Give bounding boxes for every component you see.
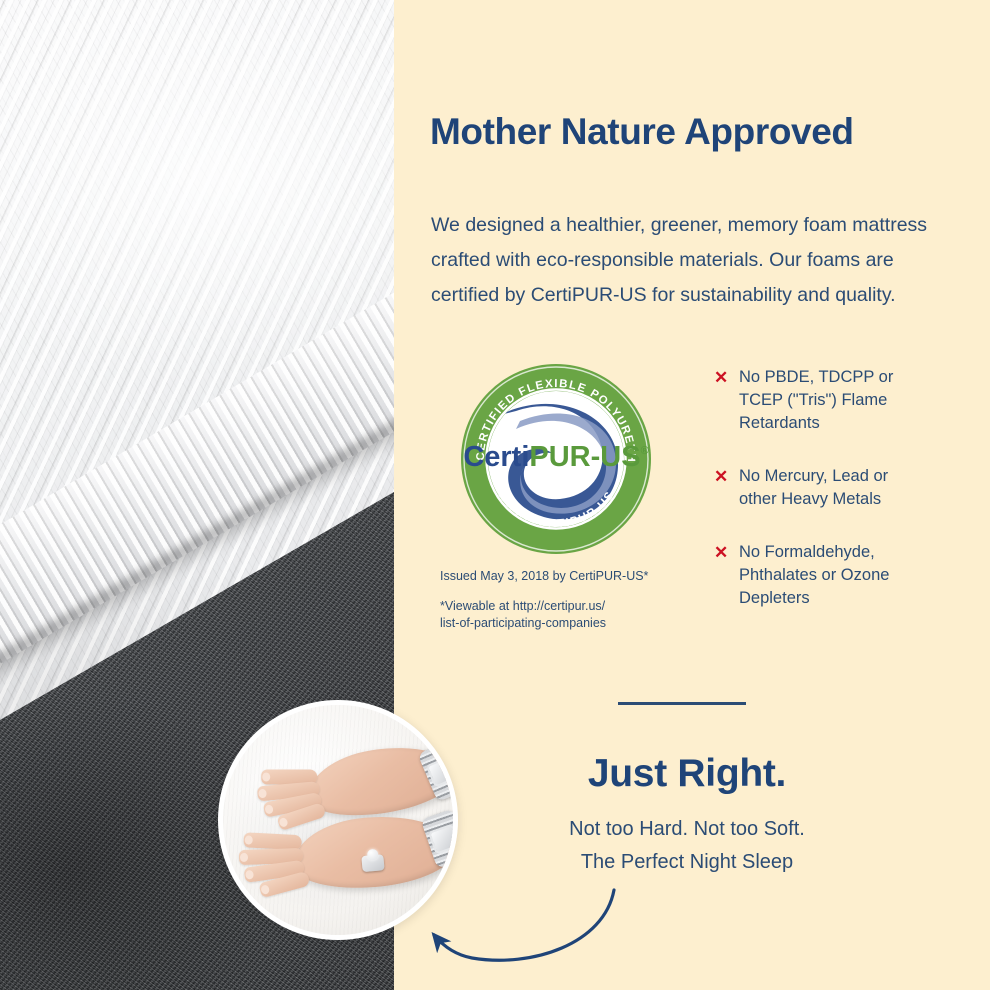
claims-list: ✕ No PBDE, TDCPP or TCEP ("Tris") Flame …	[714, 366, 954, 640]
seal-note-line2: list-of-participating-companies	[440, 615, 710, 632]
just-right-subtitle-line1: Not too Hard. Not too Soft.	[394, 818, 990, 841]
claim-item: ✕ No PBDE, TDCPP or TCEP ("Tris") Flame …	[714, 366, 954, 435]
diamond-ring	[361, 854, 384, 872]
claim-item: ✕ No Mercury, Lead or other Heavy Metals	[714, 465, 954, 511]
page-title: Mother Nature Approved	[430, 111, 854, 153]
just-right-subtitle-line2: The Perfect Night Sleep	[394, 851, 990, 874]
claim-line: Depleters	[739, 589, 810, 607]
seal-wordmark: CertiPUR-US®	[463, 441, 648, 473]
infographic-page: Mother Nature Approved We designed a hea…	[0, 0, 990, 990]
claim-line: No PBDE, TDCPP or	[739, 368, 893, 386]
seal-note-line1: *Viewable at http://certipur.us/	[440, 598, 710, 615]
red-x-icon: ✕	[714, 465, 728, 488]
just-right-title: Just Right.	[394, 752, 990, 796]
claim-line: Retardants	[739, 414, 820, 432]
claim-line: TCEP ("Tris") Flame	[739, 391, 887, 409]
claim-line: No Mercury, Lead or	[739, 467, 888, 485]
seal-caption: Issued May 3, 2018 by CertiPUR-US* *View…	[440, 568, 710, 632]
section-divider	[618, 702, 746, 705]
certipur-us-seal: CONTAINS CERTIFIED FLEXIBLE POLYURETHANE…	[460, 363, 652, 555]
seal-issued-text: Issued May 3, 2018 by CertiPUR-US*	[440, 568, 710, 585]
red-x-icon: ✕	[714, 366, 728, 389]
claim-item: ✕ No Formaldehyde, Phthalates or Ozone D…	[714, 541, 954, 610]
red-x-icon: ✕	[714, 541, 728, 564]
claim-line: other Heavy Metals	[739, 490, 881, 508]
claim-line: No Formaldehyde,	[739, 543, 875, 561]
intro-paragraph: We designed a healthier, greener, memory…	[431, 208, 947, 313]
content-column: Mother Nature Approved We designed a hea…	[394, 0, 990, 990]
claim-line: Phthalates or Ozone	[739, 566, 889, 584]
